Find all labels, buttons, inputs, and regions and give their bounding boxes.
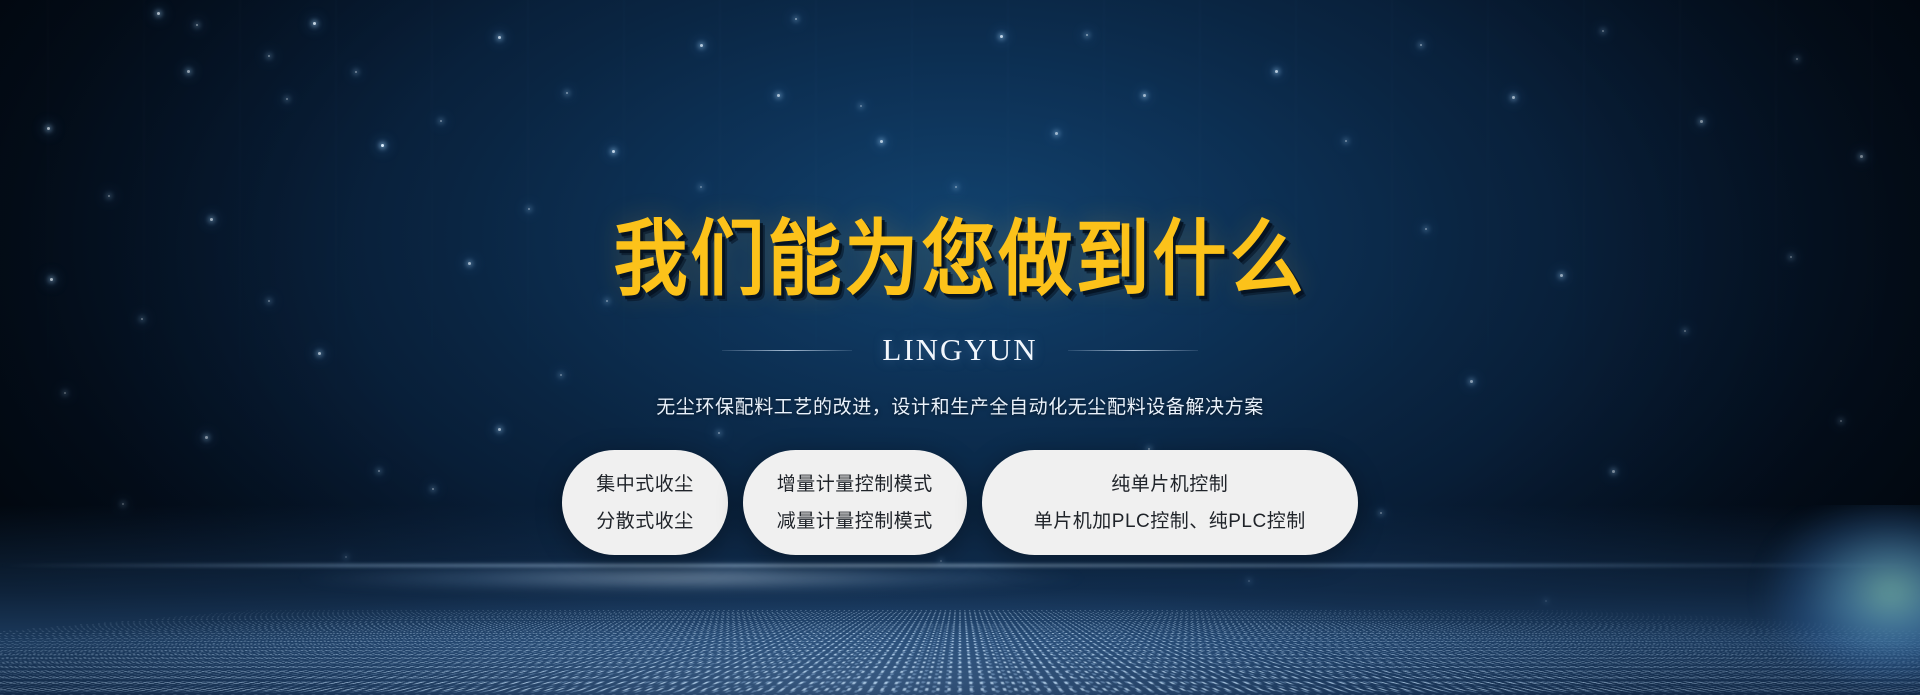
- tagline: 无尘环保配料工艺的改进，设计和生产全自动化无尘配料设备解决方案: [656, 392, 1264, 419]
- feature-card-list: 集中式收尘 分散式收尘 增量计量控制模式 减量计量控制模式 纯单片机控制 单片机…: [562, 450, 1357, 555]
- card-line: 纯单片机控制: [1111, 475, 1228, 494]
- card-line: 单片机加PLC控制、纯PLC控制: [1034, 512, 1306, 531]
- divider-line-right: [1068, 350, 1198, 351]
- card-line: 分散式收尘: [596, 512, 694, 531]
- brand-name: LINGYUN: [882, 332, 1037, 368]
- hero-banner: 我们能为您做到什么 LINGYUN 无尘环保配料工艺的改进，设计和生产全自动化无…: [0, 0, 1920, 695]
- card-line: 集中式收尘: [596, 475, 694, 494]
- feature-card-metering-mode[interactable]: 增量计量控制模式 减量计量控制模式: [743, 450, 967, 555]
- feature-card-control-system[interactable]: 纯单片机控制 单片机加PLC控制、纯PLC控制: [982, 450, 1358, 555]
- brand-row: LINGYUN: [722, 332, 1197, 368]
- banner-content: 我们能为您做到什么 LINGYUN 无尘环保配料工艺的改进，设计和生产全自动化无…: [0, 0, 1920, 695]
- divider-line-left: [722, 350, 852, 351]
- feature-card-dust-collection[interactable]: 集中式收尘 分散式收尘: [562, 450, 728, 555]
- card-line: 增量计量控制模式: [777, 475, 933, 494]
- card-line: 减量计量控制模式: [777, 512, 933, 531]
- page-title: 我们能为您做到什么: [614, 218, 1307, 301]
